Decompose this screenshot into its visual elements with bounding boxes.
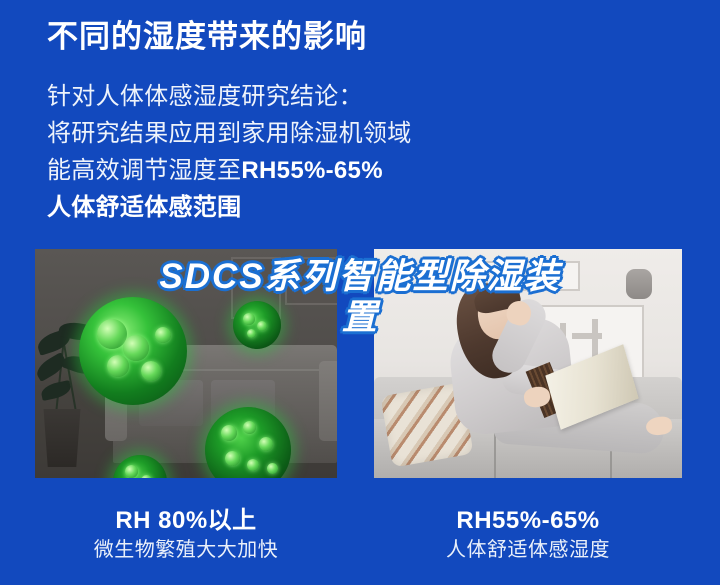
humidity-range-value: RH55%-65% [241, 157, 382, 184]
caption-right-title: RH55%-65% [374, 506, 682, 536]
photo-comfort-room [374, 249, 682, 478]
intro-line-1: 针对人体体感湿度研究结论： [47, 78, 517, 115]
intro-line-3: 能高效调节湿度至RH55%-65% [47, 152, 517, 189]
intro-text-block: 针对人体体感湿度研究结论： 将研究结果应用到家用除湿机领域 能高效调节湿度至RH… [47, 78, 517, 226]
photo-humid-room [35, 249, 337, 478]
plant-pot [41, 409, 83, 467]
intro-line-2: 将研究结果应用到家用除湿机领域 [47, 115, 517, 152]
wall-frame-dark-b [285, 257, 337, 305]
microbe-large [79, 297, 187, 405]
poster-root: 不同的湿度带来的影响 针对人体体感湿度研究结论： 将研究结果应用到家用除湿机领域… [0, 0, 720, 585]
intro-line-4: 人体舒适体感范围 [47, 189, 517, 226]
caption-humid-room: RH 80%以上 微生物繁殖大大加快 [35, 506, 337, 564]
caption-left-subtitle: 微生物繁殖大大加快 [35, 536, 337, 564]
sofa-dark-arm-right [319, 361, 337, 441]
caption-left-title: RH 80%以上 [35, 506, 337, 536]
page-title: 不同的湿度带来的影响 [47, 17, 367, 57]
smart-speaker [626, 269, 652, 299]
microbe-small [233, 301, 281, 349]
caption-right-subtitle: 人体舒适体感湿度 [374, 536, 682, 564]
intro-line-3-prefix: 能高效调节湿度至 [47, 157, 241, 184]
caption-comfort-room: RH55%-65% 人体舒适体感湿度 [374, 506, 682, 564]
